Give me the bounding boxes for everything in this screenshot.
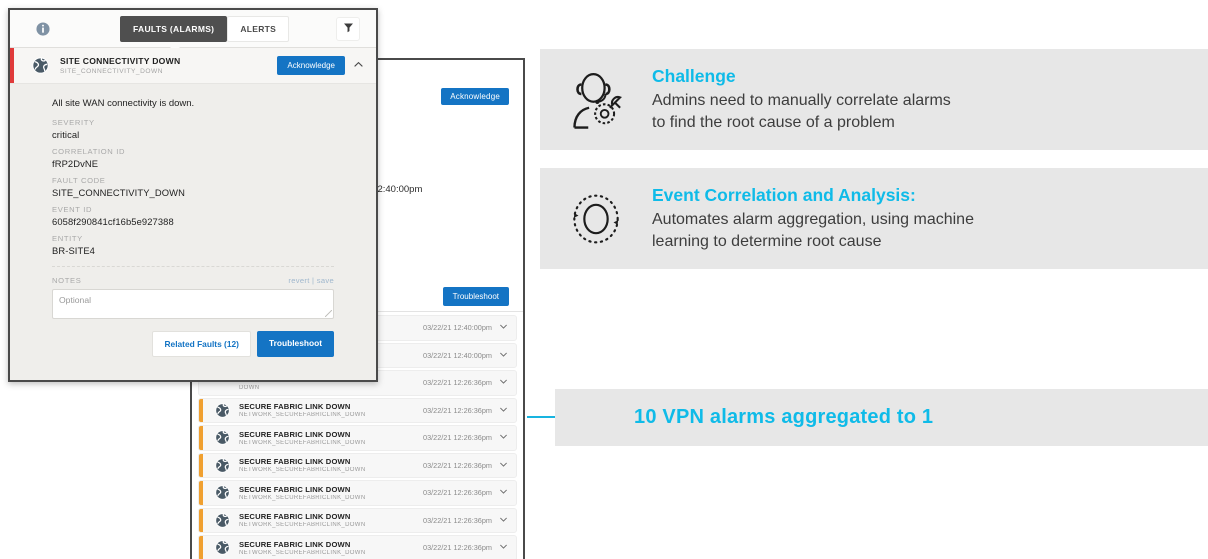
alarm-row-time: 03/22/21 12:26:36pm	[423, 516, 492, 525]
dialog-alarm-subtitle: SITE_CONNECTIVITY_DOWN	[60, 68, 277, 75]
dialog-alarm-title: SITE CONNECTIVITY DOWN	[60, 56, 277, 66]
dialog-tab-bar: FAULTS (ALARMS) ALERTS	[10, 10, 376, 48]
alarm-row-text: SECURE FABRIC LINK DOWNNETWORK_SECUREFAB…	[239, 485, 423, 501]
alarm-field: CORRELATION IDfRP2DvNE	[52, 147, 376, 169]
severity-bar	[199, 536, 203, 559]
alarm-row-time: 03/22/21 12:26:36pm	[423, 406, 492, 415]
alarm-row-title: SECURE FABRIC LINK DOWN	[239, 402, 423, 411]
severity-bar	[199, 509, 203, 533]
alarm-row[interactable]: SECURE FABRIC LINK DOWNNETWORK_SECUREFAB…	[198, 480, 517, 506]
alarm-field-key: SEVERITY	[52, 118, 376, 127]
alarm-row-subtitle: NETWORK_SECUREFABRICLINK_DOWN	[239, 495, 423, 501]
alarm-field-key: CORRELATION ID	[52, 147, 376, 156]
notes-revert-link[interactable]: revert	[288, 276, 309, 285]
filter-icon	[343, 20, 354, 38]
alarm-row-title: SECURE FABRIC LINK DOWN	[239, 485, 423, 494]
globe-icon	[215, 513, 230, 528]
info-icon[interactable]	[36, 22, 50, 36]
alarm-row-subtitle: DOWN	[239, 385, 423, 391]
globe-icon	[32, 57, 49, 74]
callout-event-correlation: Event Correlation and Analysis: Automate…	[540, 168, 1208, 269]
callout-correlation-text: Event Correlation and Analysis: Automate…	[652, 185, 1208, 251]
chevron-down-icon[interactable]	[499, 432, 508, 443]
alarm-row[interactable]: SECURE FABRIC LINK DOWNNETWORK_SECUREFAB…	[198, 398, 517, 424]
callout-correlation-line1: Automates alarm aggregation, using machi…	[652, 209, 1208, 230]
globe-icon	[215, 430, 230, 445]
alarm-field: EVENT ID6058f290841cf16b5e927388	[52, 205, 376, 227]
alarm-row-subtitle: NETWORK_SECUREFABRICLINK_DOWN	[239, 550, 423, 556]
alarm-row-text: SECURE FABRIC LINK DOWNNETWORK_SECUREFAB…	[239, 540, 423, 556]
alarm-row[interactable]: SECURE FABRIC LINK DOWNNETWORK_SECUREFAB…	[198, 535, 517, 559]
filter-button[interactable]	[336, 17, 360, 41]
chevron-down-icon[interactable]	[499, 542, 508, 553]
alarm-row-subtitle: NETWORK_SECUREFABRICLINK_DOWN	[239, 467, 423, 473]
notes-save-link[interactable]: save	[317, 276, 334, 285]
globe-icon	[215, 458, 230, 473]
tab-faults-alarms[interactable]: FAULTS (ALARMS)	[120, 16, 227, 42]
callout-aggregated-text: 10 VPN alarms aggregated to 1	[555, 406, 933, 429]
severity-bar	[199, 481, 203, 505]
alarm-row-subtitle: NETWORK_SECUREFABRICLINK_DOWN	[239, 440, 423, 446]
troubleshoot-button[interactable]: Troubleshoot	[257, 331, 334, 357]
globe-icon	[215, 485, 230, 500]
dialog-action-bar: Related Faults (12) Troubleshoot	[52, 331, 334, 357]
alarm-row-time: 03/22/21 12:40:00pm	[423, 351, 492, 360]
notes-actions[interactable]: revert | save	[288, 276, 334, 285]
chevron-down-icon[interactable]	[499, 487, 508, 498]
chevron-up-icon[interactable]	[353, 59, 364, 73]
alarm-row-text: SECURE FABRIC LINK DOWNNETWORK_SECUREFAB…	[239, 402, 423, 418]
callout-correlation-line2: learning to determine root cause	[652, 231, 1208, 252]
callout-challenge-line1: Admins need to manually correlate alarms	[652, 90, 1208, 111]
chevron-down-icon[interactable]	[499, 515, 508, 526]
alarm-row[interactable]: SECURE FABRIC LINK DOWNNETWORK_SECUREFAB…	[198, 508, 517, 534]
chevron-down-icon[interactable]	[499, 377, 508, 388]
alarm-row[interactable]: SECURE FABRIC LINK DOWNNETWORK_SECUREFAB…	[198, 425, 517, 451]
dialog-divider	[52, 266, 334, 267]
related-faults-button[interactable]: Related Faults (12)	[152, 331, 250, 357]
alarm-field-list: SEVERITYcriticalCORRELATION IDfRP2DvNEFA…	[52, 118, 376, 256]
alarm-row-title: SECURE FABRIC LINK DOWN	[239, 457, 423, 466]
severity-bar	[199, 399, 203, 423]
callout-challenge-title: Challenge	[652, 66, 1208, 87]
alarm-row-text: SECURE FABRIC LINK DOWNNETWORK_SECUREFAB…	[239, 457, 423, 473]
callout-challenge: Challenge Admins need to manually correl…	[540, 49, 1208, 150]
notes-label: NOTES	[52, 276, 81, 285]
alarm-detail-dialog: FAULTS (ALARMS) ALERTS	[8, 8, 378, 382]
app-screenshot-area: Acknowledge 4 s down. TIME 03/22/21 at 1…	[0, 0, 540, 559]
alarm-row[interactable]: SECURE FABRIC LINK DOWNNETWORK_SECUREFAB…	[198, 453, 517, 479]
chevron-down-icon[interactable]	[499, 350, 508, 361]
alarm-row-subtitle: NETWORK_SECUREFABRICLINK_DOWN	[239, 412, 423, 418]
chevron-down-icon[interactable]	[499, 460, 508, 471]
alarm-field-value: critical	[52, 129, 376, 140]
notes-separator: |	[312, 276, 314, 285]
alarm-row-text: SECURE FABRIC LINK DOWNNETWORK_SECUREFAB…	[239, 430, 423, 446]
alarm-field-value: BR-SITE4	[52, 245, 376, 256]
notes-header: NOTES revert | save	[52, 276, 334, 285]
tab-alerts[interactable]: ALERTS	[227, 16, 289, 42]
severity-bar	[199, 426, 203, 450]
alarm-row-title: SECURE FABRIC LINK DOWN	[239, 512, 423, 521]
alarm-summary-text: All site WAN connectivity is down.	[52, 98, 376, 109]
callout-challenge-text: Challenge Admins need to manually correl…	[652, 66, 1208, 132]
alarm-field-value: 6058f290841cf16b5e927388	[52, 216, 376, 227]
alarm-row-time: 03/22/21 12:26:36pm	[423, 461, 492, 470]
callout-challenge-line2: to find the root cause of a problem	[652, 112, 1208, 133]
alarm-row-time: 03/22/21 12:26:36pm	[423, 433, 492, 442]
alarm-field-value: SITE_CONNECTIVITY_DOWN	[52, 187, 376, 198]
alarm-row-title: SECURE FABRIC LINK DOWN	[239, 430, 423, 439]
notes-input[interactable]: Optional	[52, 289, 334, 319]
acknowledge-button[interactable]: Acknowledge	[277, 56, 345, 75]
alarm-field-key: ENTITY	[52, 234, 376, 243]
globe-icon	[215, 540, 230, 555]
chevron-down-icon[interactable]	[499, 322, 508, 333]
alarm-row-time: 03/22/21 12:26:36pm	[423, 543, 492, 552]
alarm-field-value: fRP2DvNE	[52, 158, 376, 169]
alarm-row-text: SECURE FABRIC LINK DOWNNETWORK_SECUREFAB…	[239, 512, 423, 528]
alarm-row-subtitle: NETWORK_SECUREFABRICLINK_DOWN	[239, 522, 423, 528]
notes-resize-handle[interactable]	[325, 310, 332, 317]
dialog-tabs[interactable]: FAULTS (ALARMS) ALERTS	[120, 16, 289, 42]
dialog-alarm-header[interactable]: SITE CONNECTIVITY DOWN SITE_CONNECTIVITY…	[10, 48, 376, 84]
alarm-field-key: FAULT CODE	[52, 176, 376, 185]
dialog-header-text: SITE CONNECTIVITY DOWN SITE_CONNECTIVITY…	[60, 56, 277, 75]
severity-bar	[199, 454, 203, 478]
notes-placeholder: Optional	[59, 295, 91, 305]
alarm-row-title: SECURE FABRIC LINK DOWN	[239, 540, 423, 549]
callout-aggregated: 10 VPN alarms aggregated to 1	[555, 389, 1208, 446]
alarm-row-time: 03/22/21 12:26:36pm	[423, 378, 492, 387]
alarm-field-key: EVENT ID	[52, 205, 376, 214]
dialog-body: All site WAN connectivity is down. SEVER…	[10, 84, 376, 256]
globe-icon	[215, 403, 230, 418]
background-troubleshoot-button[interactable]: Troubleshoot	[443, 287, 509, 306]
severity-bar	[10, 48, 14, 83]
alarm-field: ENTITYBR-SITE4	[52, 234, 376, 256]
alarm-field: FAULT CODESITE_CONNECTIVITY_DOWN	[52, 176, 376, 198]
background-acknowledge-button[interactable]: Acknowledge	[441, 88, 509, 105]
callout-correlation-title: Event Correlation and Analysis:	[652, 185, 1208, 206]
alarm-row-time: 03/22/21 12:40:00pm	[423, 323, 492, 332]
headset-admin-wrench-icon	[540, 69, 652, 131]
circular-rotation-icon	[540, 189, 652, 249]
alarm-row-time: 03/22/21 12:26:36pm	[423, 488, 492, 497]
chevron-down-icon[interactable]	[499, 405, 508, 416]
notes-section: NOTES revert | save Optional	[52, 276, 334, 319]
alarm-field: SEVERITYcritical	[52, 118, 376, 140]
